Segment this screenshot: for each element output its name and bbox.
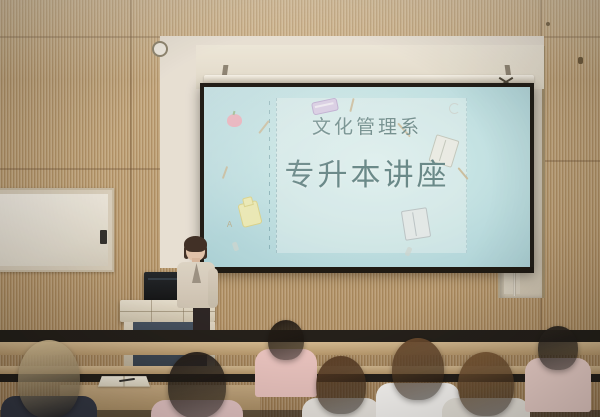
speaker-hair <box>184 236 207 252</box>
podium-seam <box>151 300 152 322</box>
speaker-arm <box>208 268 218 308</box>
attendee-brown-c-head <box>458 352 514 416</box>
attendee-brown-a-head <box>316 356 366 414</box>
attendee-right-edge-head <box>538 326 578 370</box>
attendee-brown-b-head <box>392 338 444 400</box>
wall-seam-right-h <box>542 160 600 162</box>
projector-screen: A 文化管理系 专升本讲座 <box>196 45 544 280</box>
ceiling-speaker-icon <box>152 41 168 57</box>
screen-frame: A 文化管理系 专升本讲座 <box>200 83 534 271</box>
wall-bracket-icon <box>578 57 583 64</box>
whiteboard-surface <box>0 194 108 266</box>
attendee-dark-left-head <box>168 352 226 417</box>
whiteboard-marker-holder <box>100 230 107 244</box>
screen-glare <box>204 87 530 267</box>
attendee-pink-center-head <box>268 320 304 360</box>
screen-weight-bar <box>200 267 534 273</box>
attendee-blonde-head <box>18 340 80 417</box>
wall-seam-left <box>0 168 170 170</box>
wall-fixture-dot <box>546 22 550 26</box>
lecture-hall-photo: A 文化管理系 专升本讲座 <box>0 0 600 417</box>
projected-slide: A 文化管理系 专升本讲座 <box>204 87 530 267</box>
whiteboard <box>0 188 114 272</box>
